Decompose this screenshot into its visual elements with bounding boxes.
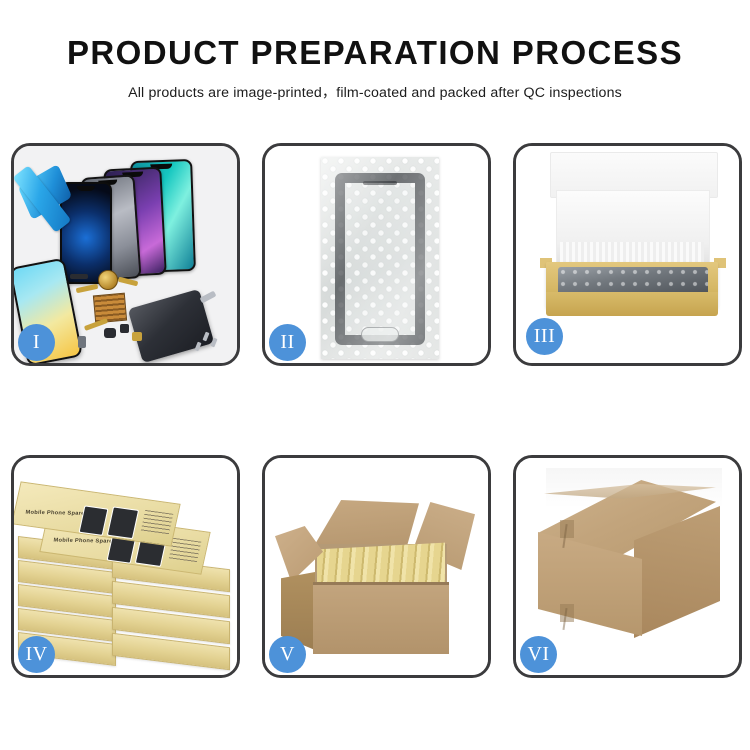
gold-contact-icon xyxy=(132,332,142,341)
page-header: PRODUCT PREPARATION PROCESS All products… xyxy=(0,0,750,102)
process-step-panel-1[interactable]: I xyxy=(11,143,240,366)
screen-frame-icon xyxy=(335,173,425,345)
process-step-grid: I II xyxy=(11,143,740,678)
camera-module-icon xyxy=(104,328,116,338)
bubble-wrapped-screen-icon xyxy=(321,157,439,359)
chip-grid-icon xyxy=(93,293,127,324)
home-button-icon xyxy=(361,327,399,342)
process-step-panel-3[interactable]: III xyxy=(513,143,742,366)
box-spec-lines xyxy=(169,538,202,563)
page-subtitle: All products are image-printed，film-coat… xyxy=(0,71,750,102)
carton-seam-icon xyxy=(313,582,449,585)
box-window-phone-icon xyxy=(107,506,139,539)
kraft-box-front-face-icon xyxy=(546,292,718,316)
step-badge-6: VI xyxy=(520,636,557,673)
carton-front-face-icon xyxy=(313,582,449,654)
step-badge-5: V xyxy=(269,636,306,673)
flex-cable-icon xyxy=(76,284,99,293)
process-step-panel-2[interactable]: II xyxy=(262,143,491,366)
earpiece-speaker-icon xyxy=(363,181,397,185)
process-step-panel-5[interactable]: V xyxy=(262,455,491,678)
step-badge-1: I xyxy=(18,324,55,361)
foam-padding-icon xyxy=(560,242,704,264)
battery-connector-icon xyxy=(78,336,86,348)
copper-coil-icon xyxy=(98,270,118,290)
carton-notch-icon xyxy=(560,604,574,622)
speaker-part-icon xyxy=(70,274,88,279)
carton-notch-icon xyxy=(560,520,574,538)
step-badge-4: IV xyxy=(18,636,55,673)
process-step-panel-4[interactable]: Mobile Phone Spare Parts Mobile Phone Sp… xyxy=(11,455,240,678)
box-window-phone-icon xyxy=(79,505,109,536)
box-spec-lines xyxy=(141,510,174,535)
process-step-panel-6[interactable]: VI xyxy=(513,455,742,678)
step-badge-2: II xyxy=(269,324,306,361)
page-title: PRODUCT PREPARATION PROCESS xyxy=(0,0,750,71)
small-component-icon xyxy=(120,324,129,333)
step-badge-3: III xyxy=(526,318,563,355)
wrapped-screen-in-box-icon xyxy=(558,267,708,295)
tweezers-icon xyxy=(200,291,217,304)
